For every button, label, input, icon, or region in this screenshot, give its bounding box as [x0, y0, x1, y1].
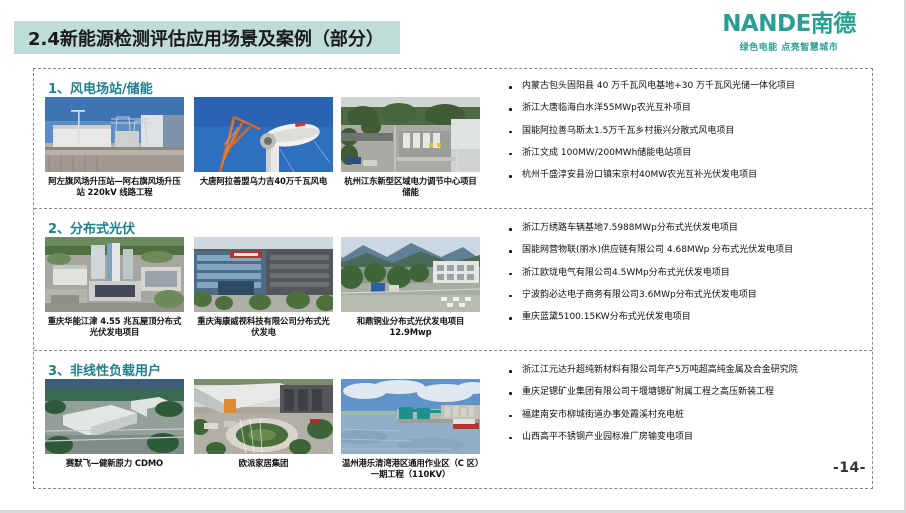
slide-header: 2.4新能源检测评估应用场景及案例（部分） NANDE南德 绿色电能 点亮智慧城… [0, 0, 906, 66]
wind-turbine-photo [194, 97, 333, 172]
logo-wordmark: NANDE南德 [694, 12, 884, 36]
section-wind-storage: 1、风电场站/储能 [34, 69, 872, 208]
bullet-item: 宁波韵必达电子商务有限公司3.6MWp分布式光伏发电项目 [506, 290, 866, 301]
bullet-item: 内蒙古包头固阳县 40 万千瓦风电基地+30 万千瓦风光储一体化项目 [506, 81, 866, 92]
slide-root: 2.4新能源检测评估应用场景及案例（部分） NANDE南德 绿色电能 点亮智慧城… [0, 0, 906, 513]
page-title-band: 2.4新能源检测评估应用场景及案例（部分） [14, 21, 400, 54]
project-caption: 重庆海康威视科技有限公司分布式光伏发电 [194, 316, 333, 338]
page-title: 2.4新能源检测评估应用场景及案例（部分） [28, 25, 384, 51]
aerial-warehouse-photo [194, 379, 333, 454]
bullet-item: 福建南安市柳城街道办事处霞溪村充电桩 [506, 410, 866, 421]
section-nonlinear-load: 3、非线性负载用户 [34, 350, 872, 490]
section-image-row: 赛默飞—健新原力 CDMO [45, 379, 490, 484]
section-image-row: 阿左旗风场升压站—阿右旗风场升压站 220kV 线路工程 [45, 97, 490, 202]
section-image-row: 重庆华能江津 4.55 兆瓦屋顶分布式光伏发电项目 [45, 237, 490, 342]
project-card[interactable]: 阿左旗风场升压站—阿右旗风场升压站 220kV 线路工程 [45, 97, 184, 198]
project-caption: 重庆华能江津 4.55 兆瓦屋顶分布式光伏发电项目 [45, 316, 184, 338]
project-card[interactable]: 赛默飞—健新原力 CDMO [45, 379, 184, 469]
project-caption: 和鼎铜业分布式光伏发电项目12.9Mwp [341, 316, 480, 338]
content-container: 1、风电场站/储能 [33, 68, 873, 489]
brand-logo: NANDE南德 绿色电能 点亮智慧城市 [694, 12, 884, 53]
section-heading: 1、风电场站/储能 [48, 78, 153, 97]
bullet-item: 浙江大唐临海白水洋55MWp农光互补项目 [506, 103, 866, 114]
project-card[interactable]: 大唐阿拉善盟乌力吉40万千瓦风电 [194, 97, 333, 187]
bullet-item: 浙江文成 100MW/200MWh储能电站项目 [506, 148, 866, 159]
bullet-item: 浙江万绣路车辆基地7.5988MWp分布式光伏发电项目 [506, 223, 866, 234]
section-heading: 2、分布式光伏 [48, 218, 135, 237]
logo-tagline: 绿色电能 点亮智慧城市 [694, 40, 884, 53]
office-building-photo [194, 237, 333, 312]
section-distributed-pv: 2、分布式光伏 [34, 208, 872, 350]
project-caption: 阿左旗风场升压站—阿右旗风场升压站 220kV 线路工程 [45, 176, 184, 198]
project-card[interactable]: 温州港乐清湾港区通用作业区（C 区）一期工程（110KV） [341, 379, 480, 480]
bullet-item: 重庆足锶矿业集团有限公司干堰塘锶矿附属工程之高压新装工程 [506, 387, 866, 398]
project-caption: 杭州江东新型区域电力调节中心项目储能 [341, 176, 480, 198]
project-card[interactable]: 重庆海康威视科技有限公司分布式光伏发电 [194, 237, 333, 338]
harbor-photo [341, 379, 480, 454]
bullet-item: 国能网营物联(丽水)供应链有限公司 4.68MWp 分布式光伏发电项目 [506, 245, 866, 256]
project-caption: 温州港乐清湾港区通用作业区（C 区）一期工程（110KV） [341, 458, 480, 480]
aerial-energy-center-photo [341, 97, 480, 172]
bullet-item: 杭州千盛淳安县汾口镇宋京村40MW农光互补光伏发电项目 [506, 170, 866, 181]
bullet-item: 重庆蓝黛5100.15KW分布式光伏发电项目 [506, 312, 866, 323]
section-heading: 3、非线性负载用户 [48, 360, 161, 379]
section-bullet-list: 浙江万绣路车辆基地7.5988MWp分布式光伏发电项目 国能网营物联(丽水)供应… [506, 223, 866, 323]
project-card[interactable]: 和鼎铜业分布式光伏发电项目12.9Mwp [341, 237, 480, 338]
bullet-item: 浙江欧珑电气有限公司4.5WMp分布式光伏发电项目 [506, 268, 866, 279]
project-card[interactable]: 欧派家居集团 [194, 379, 333, 469]
substation-photo [45, 97, 184, 172]
project-caption: 赛默飞—健新原力 CDMO [45, 458, 184, 469]
project-card[interactable]: 重庆华能江津 4.55 兆瓦屋顶分布式光伏发电项目 [45, 237, 184, 338]
project-card[interactable]: 杭州江东新型区域电力调节中心项目储能 [341, 97, 480, 198]
section-bullet-list: 浙江江元达升超纯新材料有限公司年产5万吨超高纯金属及合金研究院 重庆足锶矿业集团… [506, 365, 866, 443]
bullet-item: 山西高平不锈钢产业园标准厂房输变电项目 [506, 432, 866, 443]
aerial-factory-photo [45, 379, 184, 454]
project-caption: 欧派家居集团 [194, 458, 333, 469]
aerial-industrial-photo [45, 237, 184, 312]
bullet-item: 国能阿拉善乌斯太1.5万千瓦乡村振兴分散式风电项目 [506, 126, 866, 137]
project-caption: 大唐阿拉善盟乌力吉40万千瓦风电 [194, 176, 333, 187]
section-bullet-list: 内蒙古包头固阳县 40 万千瓦风电基地+30 万千瓦风光储一体化项目 浙江大唐临… [506, 81, 866, 181]
page-number: -14- [833, 460, 866, 476]
mountain-campus-photo [341, 237, 480, 312]
bullet-item: 浙江江元达升超纯新材料有限公司年产5万吨超高纯金属及合金研究院 [506, 365, 866, 376]
